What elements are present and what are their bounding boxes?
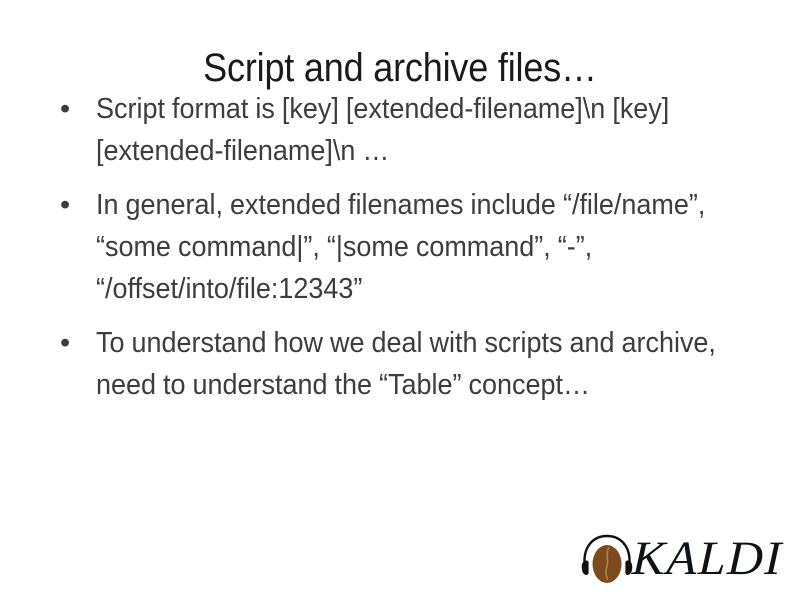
slide-canvas: Script and archive files… • Script forma… bbox=[0, 0, 800, 599]
kaldi-coffee-bean-headphones-icon bbox=[578, 530, 636, 588]
list-item: • To understand how we deal with scripts… bbox=[52, 322, 762, 406]
bullet-text-table-concept: To understand how we deal with scripts a… bbox=[96, 322, 762, 406]
list-item: • In general, extended filenames include… bbox=[52, 184, 762, 310]
bullet-point-icon: • bbox=[60, 88, 74, 130]
bullet-text-extended-filenames: In general, extended filenames include “… bbox=[96, 184, 762, 310]
bullet-point-icon: • bbox=[60, 184, 74, 226]
list-item: • Script format is [key] [extended-filen… bbox=[52, 88, 762, 172]
kaldi-wordmark: KALDI bbox=[631, 534, 783, 584]
page-title: Script and archive files… bbox=[40, 44, 760, 92]
bullet-list: • Script format is [key] [extended-filen… bbox=[52, 88, 762, 406]
bullet-text-script-format: Script format is [key] [extended-filenam… bbox=[96, 88, 762, 172]
kaldi-logo: KALDI bbox=[578, 528, 790, 590]
bullet-point-icon: • bbox=[60, 322, 74, 364]
